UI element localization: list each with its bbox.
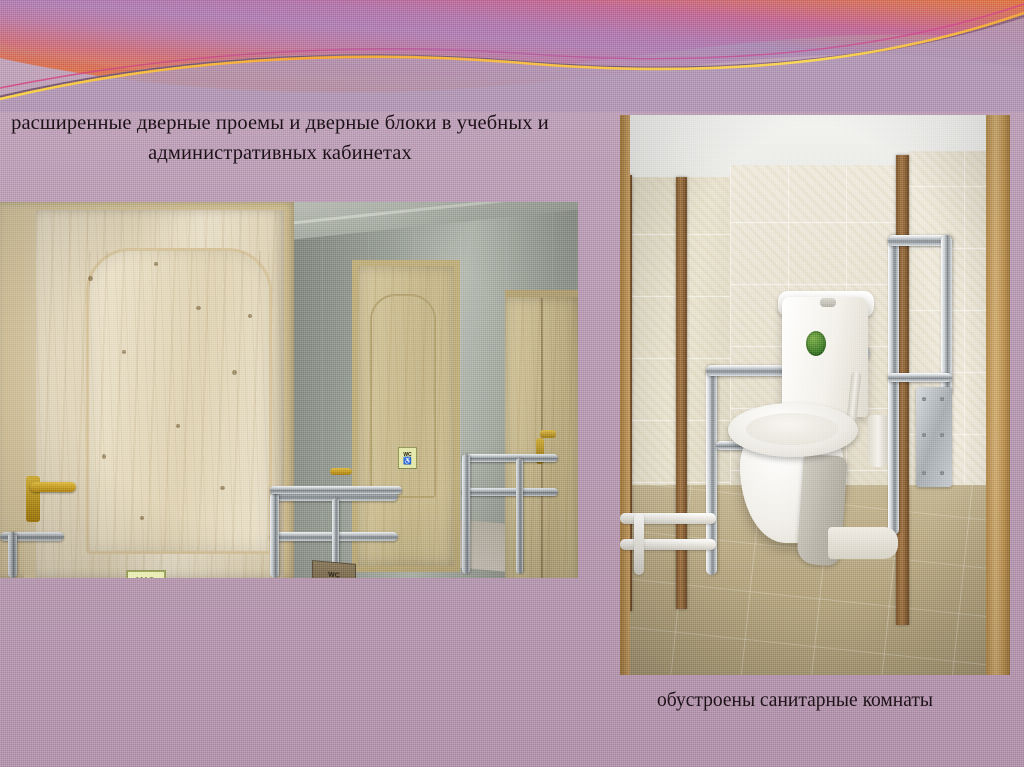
grab-bar-mounting-plate <box>916 387 952 487</box>
handrail-post-left-a <box>270 492 279 578</box>
header-wave-decoration <box>0 0 1024 112</box>
grab-bar-rung-right <box>888 373 952 382</box>
handrail-bottom-right <box>462 488 558 496</box>
green-flush-indicator <box>806 331 826 356</box>
wc-sign-foreground-door: WC ♿ <box>126 570 166 578</box>
brass-handle-far <box>540 430 556 438</box>
handrail-post-right-a <box>462 454 470 574</box>
foreground-door <box>24 210 284 578</box>
handrail-edge-post <box>8 532 17 578</box>
middle-door <box>352 260 460 572</box>
door-jamb-left <box>620 115 630 675</box>
door-jamb-right <box>986 115 1010 675</box>
handrail-top-right <box>462 454 558 462</box>
handrail-cap-left <box>270 486 402 494</box>
brass-handle-middle <box>330 468 352 475</box>
wheelchair-icon: ♿ <box>403 458 412 465</box>
toilet-seat-opening <box>746 413 838 445</box>
toilet-brush-holder <box>868 415 888 467</box>
wc-sign-label: WC <box>136 577 155 578</box>
wc-sign-middle-door: WC ♿ <box>398 447 417 469</box>
photo-caption: обустроены санитарные комнаты <box>580 688 1010 714</box>
white-rail-post <box>634 513 644 575</box>
handrail-post-right-b <box>516 458 523 574</box>
wood-grain <box>89 251 269 551</box>
wave-svg <box>0 0 1024 112</box>
door-panel-moulding <box>86 248 272 554</box>
brass-lever-handle <box>30 482 76 492</box>
page-title: расширенные дверные проемы и дверные бло… <box>4 108 556 168</box>
photo-accessible-toilet <box>620 115 1010 675</box>
grab-bar-vertical-right <box>888 235 899 535</box>
photo-doors-corridor: WC ♿ WC для инвалидов WC ♿ <box>0 202 578 578</box>
flush-button <box>820 298 836 307</box>
grab-bar-return-right <box>941 235 952 395</box>
toilet-base-pipe <box>828 527 898 559</box>
wall-plaque-sign: WC для инвалидов <box>312 560 356 578</box>
plaque-line-1: WC <box>328 571 340 578</box>
